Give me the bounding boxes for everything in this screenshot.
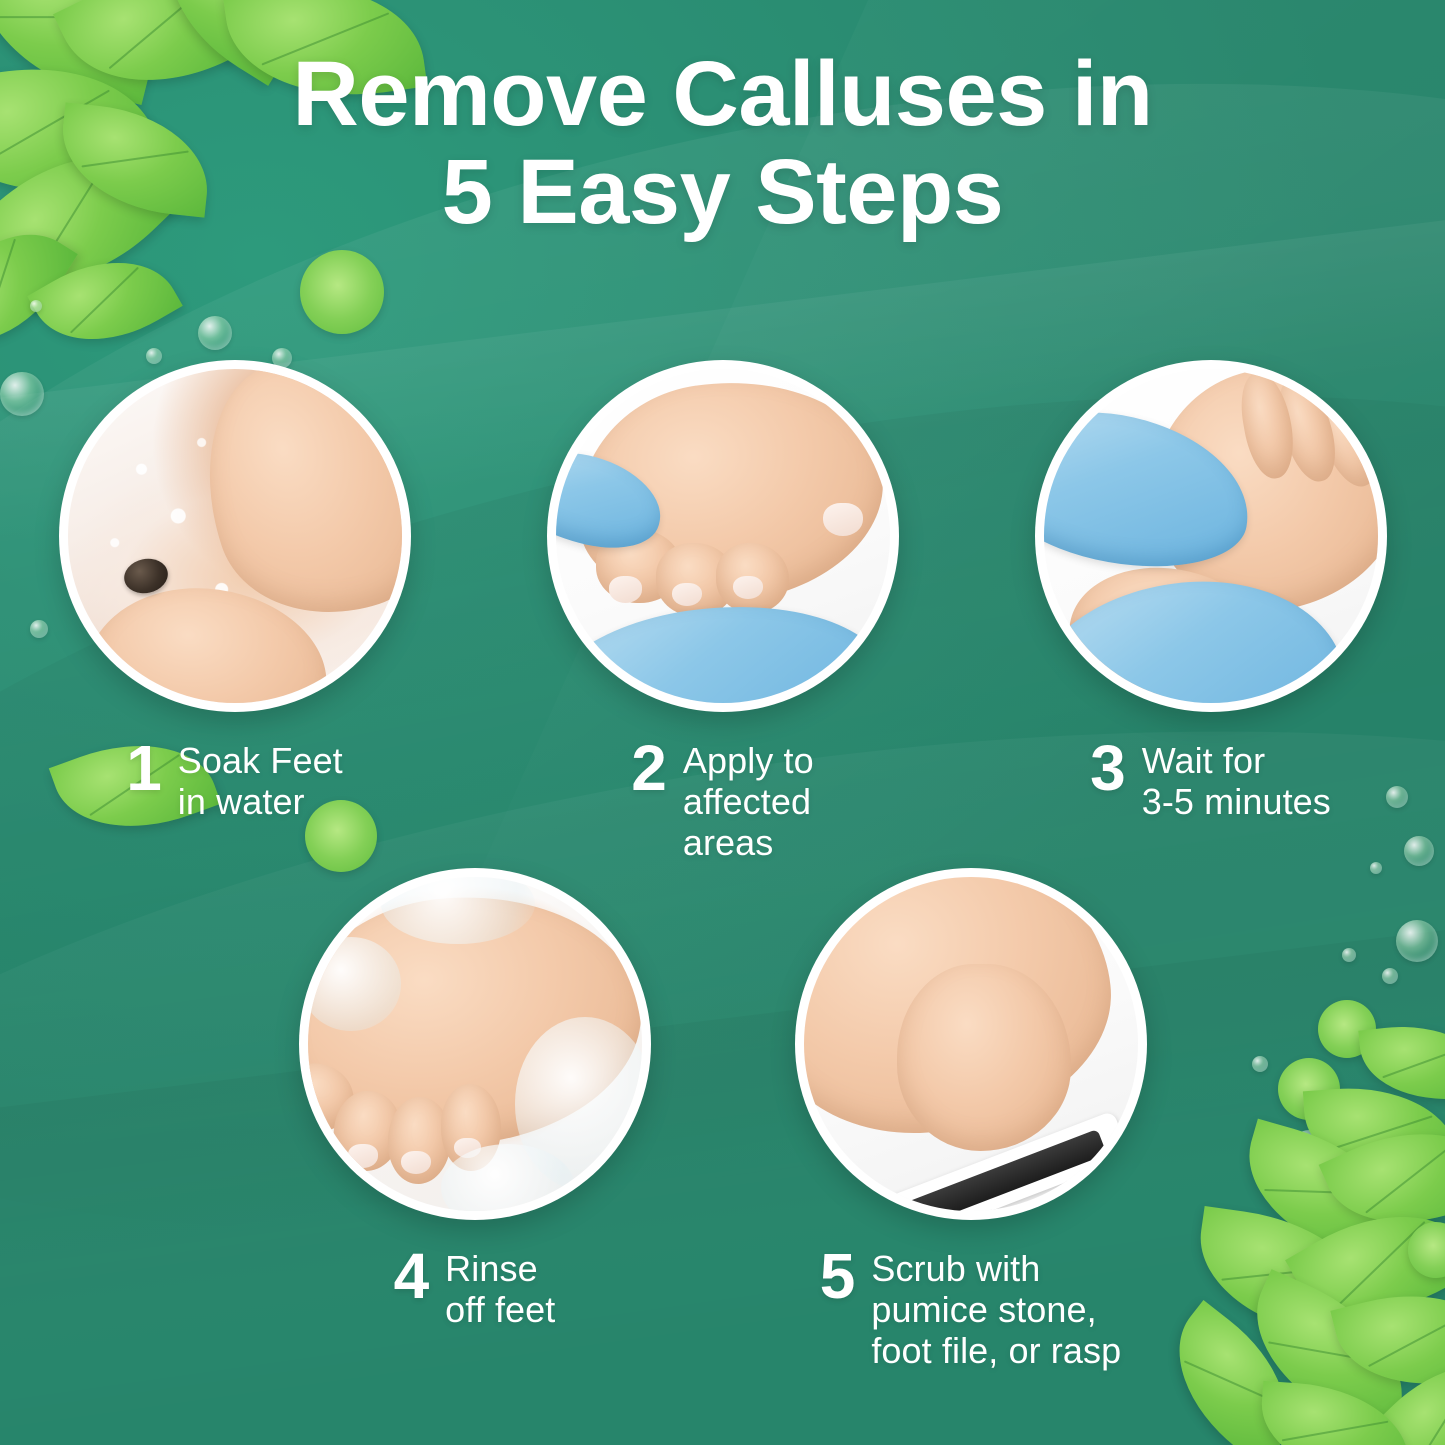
step-number-1: 1 xyxy=(126,738,162,798)
step-caption-5: 5 Scrub with pumice stone, foot file, or… xyxy=(791,1246,1151,1371)
step-card-5: 5 Scrub with pumice stone, foot file, or… xyxy=(791,868,1151,1371)
step-label-2: Apply to affected areas xyxy=(683,738,814,863)
step-caption-1: 1 Soak Feet in water xyxy=(55,738,415,822)
step-number-5: 5 xyxy=(820,1246,856,1306)
step-image-circle-3 xyxy=(1035,360,1387,712)
step-image-circle-1 xyxy=(59,360,411,712)
step-number-3: 3 xyxy=(1090,738,1126,798)
step-number-2: 2 xyxy=(631,738,667,798)
steps-row-top: 1 Soak Feet in water xyxy=(0,360,1445,863)
step-label-1: Soak Feet in water xyxy=(178,738,343,822)
step-image-circle-2 xyxy=(547,360,899,712)
step-caption-3: 3 Wait for 3-5 minutes xyxy=(1031,738,1391,822)
step-image-circle-5 xyxy=(795,868,1147,1220)
photo-apply-to-foot xyxy=(556,369,890,703)
photo-scrub-foot-file xyxy=(804,877,1138,1211)
photo-soak-feet xyxy=(68,369,402,703)
step-card-4: 4 Rinse off feet xyxy=(295,868,655,1371)
step-image-circle-4 xyxy=(299,868,651,1220)
step-card-2: 2 Apply to affected areas xyxy=(543,360,903,863)
step-label-5: Scrub with pumice stone, foot file, or r… xyxy=(871,1246,1121,1371)
steps-row-bottom: 4 Rinse off feet 5 Scrub with pumice sto… xyxy=(0,868,1445,1371)
step-card-1: 1 Soak Feet in water xyxy=(55,360,415,863)
step-number-4: 4 xyxy=(394,1246,430,1306)
poster-title: Remove Calluses in 5 Easy Steps xyxy=(0,46,1445,241)
title-line-2: 5 Easy Steps xyxy=(90,144,1355,242)
photo-wait-on-foot xyxy=(1044,369,1378,703)
step-card-3: 3 Wait for 3-5 minutes xyxy=(1031,360,1391,863)
step-caption-2: 2 Apply to affected areas xyxy=(543,738,903,863)
title-line-1: Remove Calluses in xyxy=(90,46,1355,144)
step-label-3: Wait for 3-5 minutes xyxy=(1142,738,1331,822)
step-caption-4: 4 Rinse off feet xyxy=(295,1246,655,1330)
photo-rinse-feet xyxy=(308,877,642,1211)
step-label-4: Rinse off feet xyxy=(445,1246,555,1330)
infographic-poster: Remove Calluses in 5 Easy Steps 1 Soak F… xyxy=(0,0,1445,1445)
